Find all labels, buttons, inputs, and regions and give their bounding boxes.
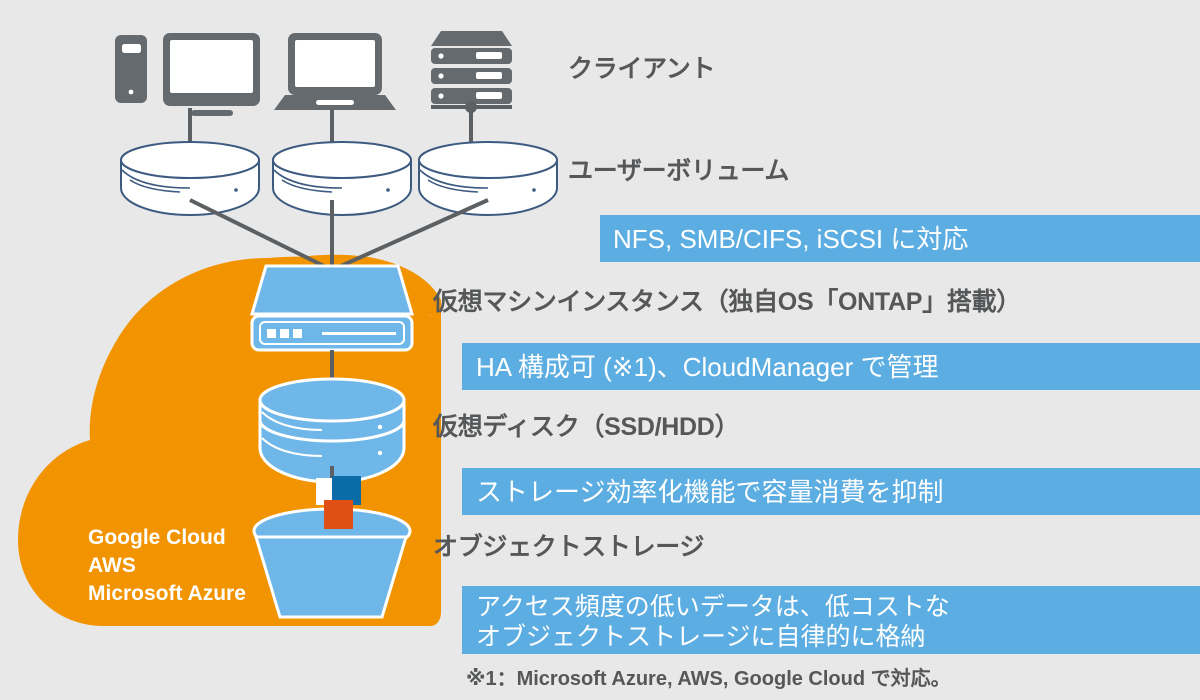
banner-disk-text: ストレージ効率化機能で容量消費を抑制	[476, 477, 943, 508]
banner-object-text-line2: オブジェクトストレージに自律的に格納	[476, 622, 926, 653]
banner-vm-text: HA 構成可 (※1)、CloudManager で管理	[476, 352, 938, 383]
cloud-provider-azure: Microsoft Azure	[88, 580, 246, 607]
footnote-text: ※1：Microsoft Azure, AWS, Google Cloud で対…	[466, 668, 951, 692]
server-rack-icon	[431, 31, 512, 104]
tier-label-vm-instance: 仮想マシンインスタンス（独自OS「ONTAP」搭載）	[433, 288, 1021, 318]
vm-appliance-icon	[252, 266, 412, 350]
tier-label-client: クライアント	[568, 55, 715, 85]
banner-volume-text: NFS, SMB/CIFS, iSCSI に対応	[613, 224, 968, 255]
monitor-icon	[163, 33, 260, 116]
volume-cylinder-icon	[121, 142, 557, 215]
tier-label-virtual-disk: 仮想ディスク（SSD/HDD）	[433, 413, 739, 443]
laptop-icon	[274, 33, 396, 110]
desktop-tower-icon	[115, 35, 147, 103]
diagram-canvas: クライアント ユーザーボリューム NFS, SMB/CIFS, iSCSI に対…	[0, 0, 1200, 700]
banner-object-text-line1: アクセス頻度の低いデータは、低コストな	[476, 592, 950, 623]
tier-label-user-volume: ユーザーボリューム	[568, 157, 789, 187]
tier-label-object-storage: オブジェクトストレージ	[433, 533, 704, 563]
cloud-provider-google: Google Cloud	[88, 524, 226, 551]
cloud-provider-aws: AWS	[88, 552, 136, 579]
